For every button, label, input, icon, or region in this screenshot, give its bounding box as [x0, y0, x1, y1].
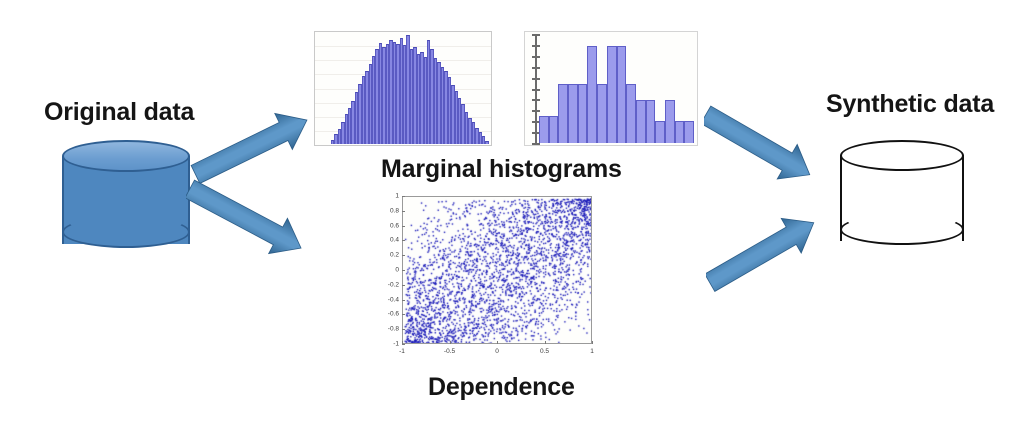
histogram-bar: [626, 84, 636, 143]
arrow-original-to-dependence: [186, 168, 326, 278]
original-data-cylinder: [62, 140, 190, 260]
y-axis-tick-label: 1: [395, 193, 399, 200]
y-axis-tick-label: 0.2: [390, 252, 399, 259]
label-marginal-histograms: Marginal histograms: [381, 155, 622, 184]
y-axis-tick: [402, 329, 405, 330]
x-axis-tick-label: -0.5: [444, 348, 455, 355]
arrow-dependence-to-synthetic: [706, 200, 846, 300]
scatter-points: [403, 197, 592, 344]
chart-dependence-scatter: 10.80.60.40.20-0.2-0.4-0.6-0.8-1-1-0.500…: [372, 192, 596, 364]
x-axis-tick: [545, 341, 546, 344]
histogram-bar: [646, 100, 656, 143]
histogram-bar: [568, 84, 578, 143]
cylinder-top-ellipse: [840, 140, 964, 171]
label-original-data: Original data: [44, 98, 194, 127]
synthetic-data-cylinder: [840, 140, 964, 258]
histogram-bar: [587, 46, 597, 143]
x-axis-tick-label: 1: [590, 348, 594, 355]
x-axis-tick-label: 0: [495, 348, 499, 355]
histogram-bar: [597, 84, 607, 143]
y-axis-tick-label: 0.6: [390, 222, 399, 229]
x-axis-tick-label: -1: [399, 348, 405, 355]
histogram-bar: [665, 100, 675, 143]
x-axis-tick: [592, 341, 593, 344]
cylinder-top-ellipse: [62, 140, 190, 172]
y-axis-tick: [402, 314, 405, 315]
y-axis-tick: [402, 240, 405, 241]
x-axis-tick-label: 0.5: [540, 348, 549, 355]
y-axis-tick: [402, 300, 405, 301]
y-axis-tick-label: -0.2: [388, 281, 399, 288]
chart-marginal-histogram-right: [524, 31, 698, 146]
y-axis-tick: [402, 255, 405, 256]
arrow-marginal-to-synthetic: [704, 100, 844, 210]
histogram-bars: [317, 34, 489, 144]
histogram-bar: [558, 84, 568, 143]
histogram-bar: [684, 121, 694, 143]
histogram-bar: [485, 141, 488, 144]
scatter-plot-area: [402, 196, 592, 344]
histogram-bar: [655, 121, 665, 143]
y-axis-tick: [402, 226, 405, 227]
y-axis-tick-label: 0.4: [390, 237, 399, 244]
histogram-bar: [617, 46, 627, 143]
y-axis-tick: [402, 270, 405, 271]
y-axis-tick-label: -0.4: [388, 296, 399, 303]
y-axis-tick: [402, 211, 405, 212]
cylinder-bottom-ellipse: [62, 216, 190, 248]
y-axis-tick: [402, 285, 405, 286]
histogram-bar: [539, 116, 549, 143]
x-axis-tick: [497, 341, 498, 344]
cylinder-bottom-ellipse: [840, 214, 964, 245]
chart-marginal-histogram-left: [314, 31, 492, 146]
histogram-bar: [636, 100, 646, 143]
label-dependence: Dependence: [428, 373, 575, 402]
histogram-bar: [607, 46, 617, 143]
label-synthetic-data: Synthetic data: [826, 90, 994, 119]
y-axis-tick-label: -0.6: [388, 311, 399, 318]
y-axis-tick-label: 0.8: [390, 207, 399, 214]
y-axis-tick: [402, 344, 405, 345]
histogram-bar: [549, 116, 559, 143]
y-axis-tick-label: 0: [395, 267, 399, 274]
histogram-bar: [578, 84, 588, 143]
histogram-bar: [675, 121, 685, 143]
x-axis-tick: [450, 341, 451, 344]
y-axis-tick-label: -0.8: [388, 326, 399, 333]
y-axis-tick: [402, 196, 405, 197]
diagram-canvas: Original data Synthetic data Marginal hi…: [0, 0, 1024, 426]
y-axis-tick-label: -1: [393, 341, 399, 348]
histogram-bars: [539, 35, 694, 143]
x-axis-tick: [402, 341, 403, 344]
y-axis: [535, 34, 537, 143]
